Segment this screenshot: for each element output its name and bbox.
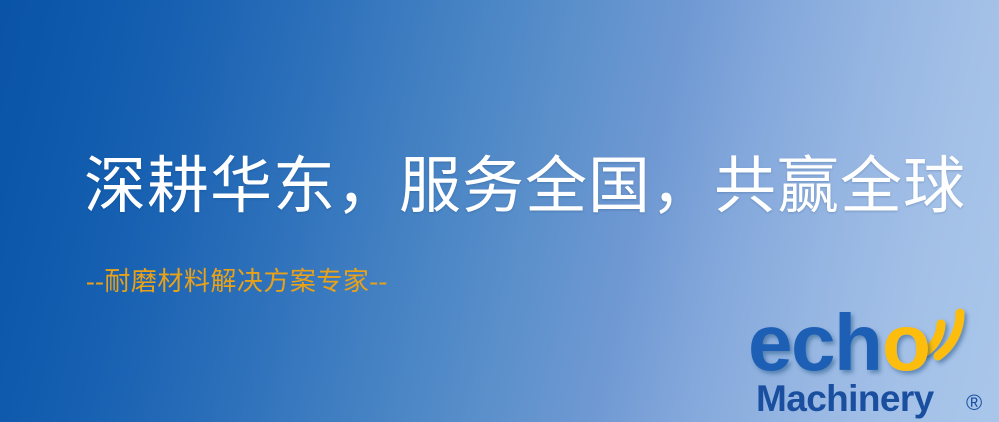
logo-tagline: Machinery — [756, 378, 935, 419]
logo-wordmark-o: o — [882, 298, 931, 387]
logo-artwork: ech o Machinery ® — [748, 296, 999, 422]
banner-headline: 深耕华东，服务全国，共赢全球 — [84, 152, 966, 223]
logo-trademark-symbol: ® — [966, 390, 982, 415]
banner-subtitle: --耐磨材料解决方案专家-- — [86, 266, 388, 297]
echo-machinery-logo[interactable]: ech o Machinery ® — [748, 296, 999, 422]
logo-wordmark-ech: ech — [748, 298, 881, 387]
hero-banner: 深耕华东，服务全国，共赢全球 --耐磨材料解决方案专家-- ech o Mach… — [0, 0, 999, 422]
